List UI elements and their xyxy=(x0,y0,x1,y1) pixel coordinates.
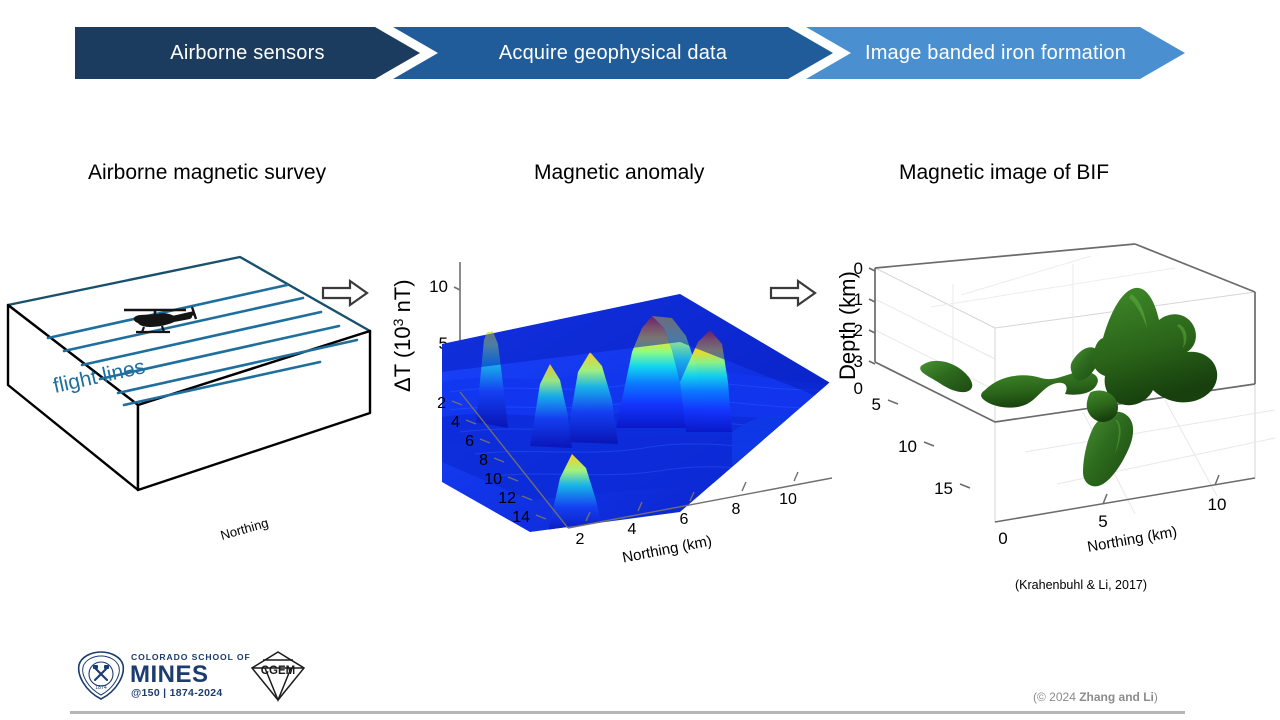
heading-magnetic-anomaly: Magnetic anomaly xyxy=(534,161,704,185)
y-tick-2: 2 xyxy=(437,395,446,412)
x-tick-10: 10 xyxy=(779,491,797,508)
x-tick-6: 6 xyxy=(680,511,689,528)
copyright-suffix: ) xyxy=(1154,690,1158,704)
z-axis-label: ΔT (103 nT) xyxy=(390,279,415,392)
process-step-image-bif[interactable]: Image banded iron formation xyxy=(806,27,1185,79)
mines-line3: @150 | 1874-2024 xyxy=(131,687,223,699)
mines-line2: MINES xyxy=(130,661,209,688)
x-tick-2: 2 xyxy=(576,531,585,548)
heading-magnetic-image-bif: Magnetic image of BIF xyxy=(899,161,1109,185)
y-tick-4: 4 xyxy=(451,414,460,431)
y-tick-10: 10 xyxy=(484,471,502,488)
x-tick-8: 8 xyxy=(732,501,741,518)
shield-year: 1874 xyxy=(95,685,107,691)
z-axis-label-unit: nT) xyxy=(390,279,415,318)
bif-isosurface-plot: 0 1 2 3 Depth (km) 0 5 10 15 0 5 10 Nort… xyxy=(835,232,1275,572)
z-tick-10: 10 xyxy=(429,277,448,296)
northing-tick-10: 10 xyxy=(1208,495,1227,514)
cgem-label: CGEM xyxy=(261,665,296,677)
y-tick-6: 6 xyxy=(465,433,474,450)
z-axis-label-symbol: ΔT (10 xyxy=(390,326,415,392)
y-tick-8: 8 xyxy=(479,452,488,469)
easting-tick-0: 0 xyxy=(854,379,863,398)
process-step-acquire-data[interactable]: Acquire geophysical data xyxy=(393,27,833,79)
process-step-label: Acquire geophysical data xyxy=(481,42,745,65)
colorado-school-of-mines-logo: 1874 COLORADO SCHOOL OF MINES @150 | 187… xyxy=(75,648,243,704)
northing-tick-5: 5 xyxy=(1098,512,1107,531)
airborne-survey-block-diagram: flight lines Northing xyxy=(0,245,390,565)
easting-tick-10: 10 xyxy=(898,437,917,456)
copyright-authors: Zhang and Li xyxy=(1079,690,1154,704)
easting-tick-15: 15 xyxy=(934,479,953,498)
northing-tick-0: 0 xyxy=(998,529,1007,548)
easting-tick-5: 5 xyxy=(872,395,881,414)
process-step-label: Airborne sensors xyxy=(152,42,342,65)
process-step-label: Image banded iron formation xyxy=(847,42,1144,65)
cgem-logo: CGEM xyxy=(247,648,309,704)
y-tick-14: 14 xyxy=(512,509,530,526)
x-tick-4: 4 xyxy=(628,521,637,538)
y-tick-12: 12 xyxy=(498,490,516,507)
svg-text:ΔT (103 nT): ΔT (103 nT) xyxy=(390,279,415,392)
mines-shield-icon: 1874 xyxy=(79,652,124,699)
copyright-prefix: (© 2024 xyxy=(1033,690,1079,704)
depth-axis-label: Depth (km) xyxy=(835,271,860,380)
process-banner: Airborne sensors Acquire geophysical dat… xyxy=(75,27,1185,79)
depth-axis xyxy=(869,268,875,364)
svg-text:Depth (km): Depth (km) xyxy=(835,271,860,380)
process-step-airborne-sensors[interactable]: Airborne sensors xyxy=(75,27,420,79)
z-axis-label-exponent: 3 xyxy=(390,318,406,326)
heading-airborne-magnetic-survey: Airborne magnetic survey xyxy=(88,161,326,185)
citation-text: (Krahenbuhl & Li, 2017) xyxy=(1015,578,1147,592)
northing-axis-label: Northing xyxy=(219,515,270,543)
copyright-notice: (© 2024 Zhang and Li) xyxy=(1033,690,1158,704)
footer-divider xyxy=(70,711,1185,714)
magnetic-anomaly-surface-plot: 10 5 ΔT (103 nT) xyxy=(380,232,850,562)
